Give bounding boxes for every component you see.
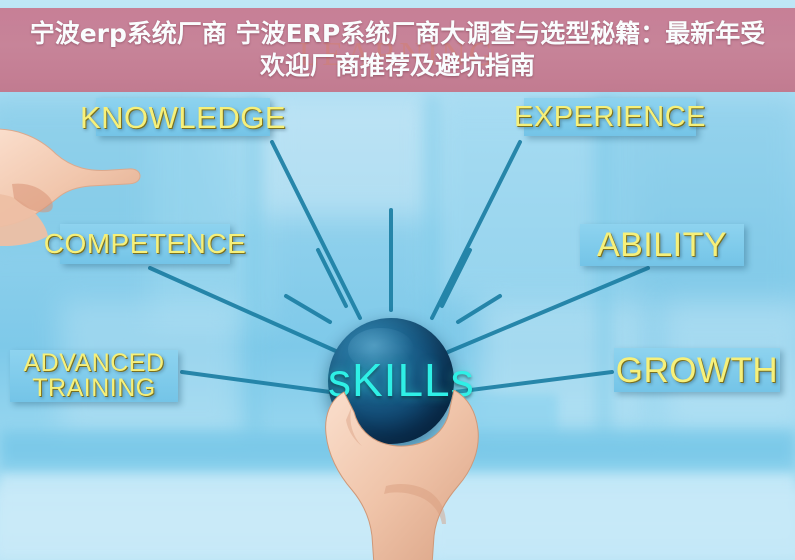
label-growth[interactable]: GROWTH bbox=[614, 348, 780, 392]
line-ray bbox=[458, 296, 500, 322]
label-ability[interactable]: ABILITY bbox=[580, 224, 744, 266]
line-to-growth bbox=[455, 372, 612, 392]
holding-hand bbox=[300, 390, 500, 560]
banner-title: 宁波erp系统厂商 宁波ERP系统厂商大调查与选型秘籍：最新年受欢迎厂商推荐及避… bbox=[28, 18, 768, 82]
line-to-experience bbox=[432, 142, 520, 318]
title-banner: LEARNING 宁波erp系统厂商 宁波ERP系统厂商大调查与选型秘籍：最新年… bbox=[0, 8, 795, 92]
line-ray bbox=[442, 250, 470, 306]
label-knowledge[interactable]: KNOWLEDGE bbox=[96, 98, 270, 136]
label-competence[interactable]: COMPETENCE bbox=[60, 224, 230, 264]
label-experience[interactable]: EXPERIENCE bbox=[524, 98, 696, 136]
line-to-knowledge bbox=[272, 142, 360, 318]
line-ray bbox=[286, 296, 330, 322]
line-to-advanced-training bbox=[182, 372, 330, 392]
image-canvas: sKILLs KNOWLEDGE EXPERIENCE COMPETENCE A… bbox=[0, 0, 795, 560]
label-advanced-training[interactable]: ADVANCED TRAINING bbox=[10, 350, 178, 402]
